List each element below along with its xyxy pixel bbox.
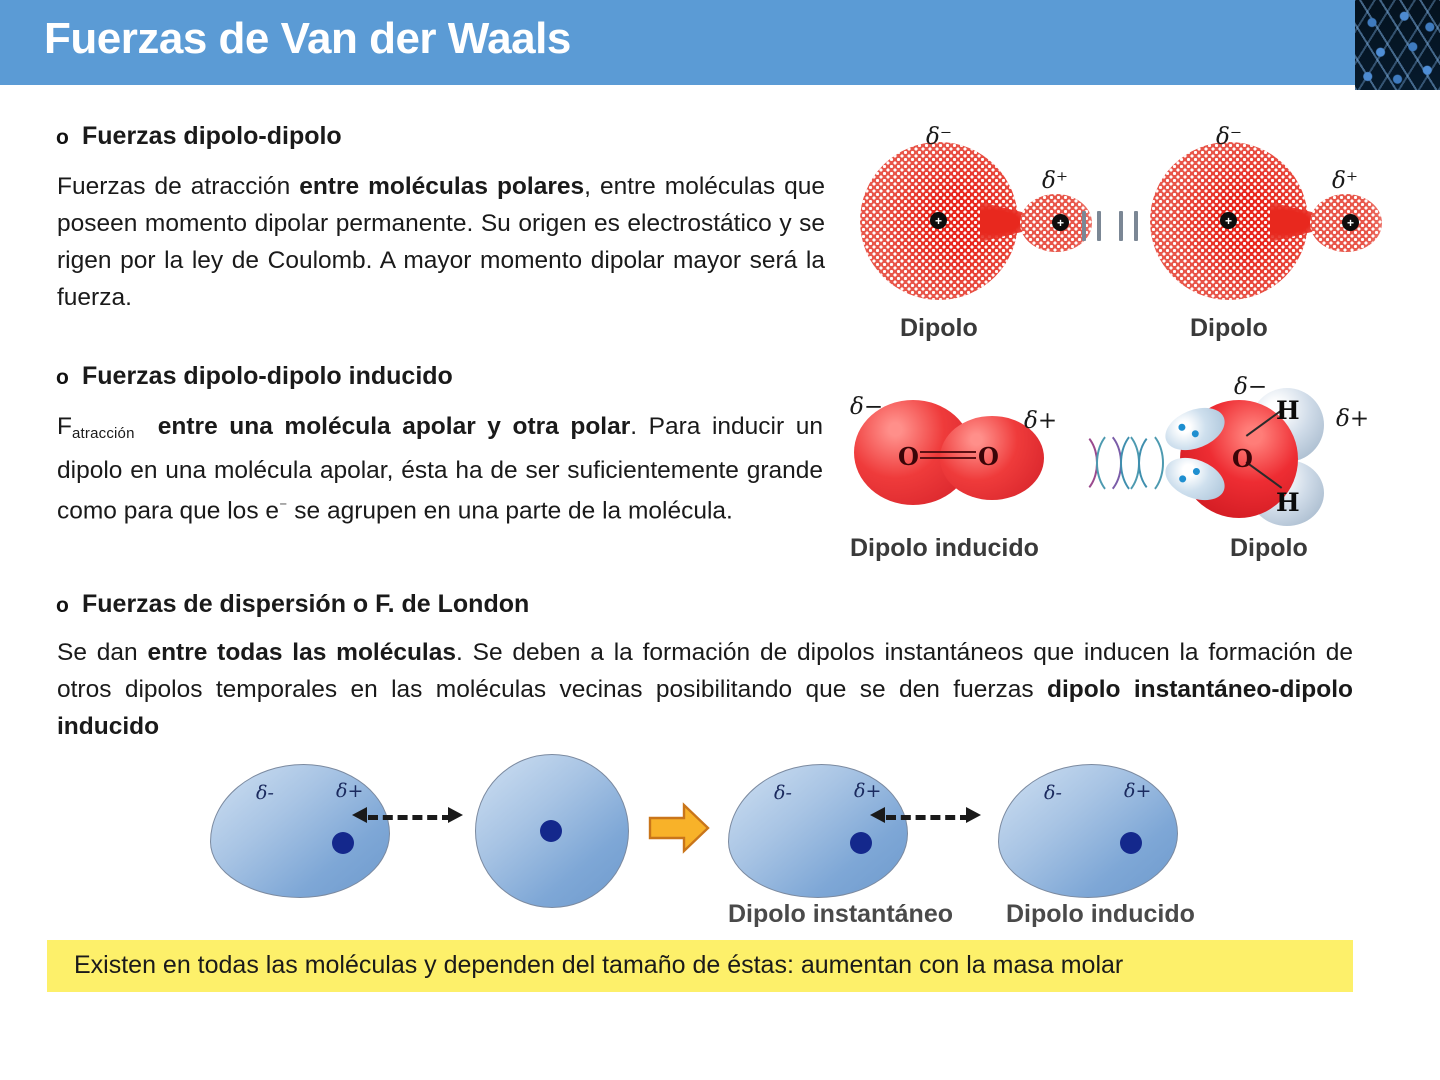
water-caption: Dipolo bbox=[1230, 534, 1308, 563]
water-delta-negative-label: δ− bbox=[1234, 374, 1267, 400]
dipole-molecule-right: + + δ⁻ δ⁺ Dipolo bbox=[1150, 136, 1400, 312]
dipole-dipole-diagram: + + δ⁻ δ⁺ Dipolo + + δ⁻ δ⁺ Dipolo bbox=[860, 112, 1380, 352]
sphere-1-nucleus bbox=[332, 832, 354, 854]
attraction-arrow-left-1 bbox=[352, 807, 367, 823]
dipole-molecule-left: + + δ⁻ δ⁺ Dipolo bbox=[860, 136, 1110, 312]
crystal-lattice-image bbox=[1355, 0, 1440, 90]
sphere-4-delta-positive: δ+ bbox=[1124, 780, 1151, 802]
transition-arrow-icon bbox=[648, 802, 710, 854]
s1-run-1: Fuerzas de atracción bbox=[57, 173, 299, 200]
sphere-2-nucleus bbox=[540, 820, 562, 842]
attraction-arrow-right-2 bbox=[966, 807, 981, 823]
o2-delta-positive-label: δ+ bbox=[1024, 408, 1057, 434]
london-dispersion-diagram: δ- δ+ δ- δ+ Dipolo instantáneo δ- δ+ Dip… bbox=[200, 748, 1200, 930]
interaction-arc bbox=[1052, 430, 1098, 496]
water-oxygen-label: O bbox=[1232, 444, 1253, 473]
sphere-4-caption: Dipolo inducido bbox=[1006, 900, 1195, 929]
double-bond-line bbox=[920, 457, 976, 459]
nucleus-negative-end: + bbox=[930, 212, 947, 229]
bullet-circle-icon: o bbox=[56, 594, 82, 618]
nucleus-negative-end: + bbox=[1220, 212, 1237, 229]
section-1-heading: oFuerzas dipolo-dipolo bbox=[56, 122, 342, 151]
section-1-heading-label: Fuerzas dipolo-dipolo bbox=[82, 122, 342, 150]
s3-run-2-bold: entre todas las moléculas bbox=[147, 639, 456, 666]
section-3-heading: oFuerzas de dispersión o F. de London bbox=[56, 590, 529, 619]
attraction-dashline-2 bbox=[886, 815, 970, 820]
section-3-heading-label: Fuerzas de dispersión o F. de London bbox=[82, 590, 529, 618]
section-2-heading-label: Fuerzas dipolo-dipolo inducido bbox=[82, 362, 453, 390]
bullet-circle-icon: o bbox=[56, 126, 82, 150]
sphere-3-nucleus bbox=[850, 832, 872, 854]
water-delta-positive-label: δ+ bbox=[1336, 406, 1369, 432]
section-2-heading: oFuerzas dipolo-dipolo inducido bbox=[56, 362, 453, 391]
s2-formula: F bbox=[57, 413, 72, 440]
section-1-body: Fuerzas de atracción entre moléculas pol… bbox=[57, 168, 825, 316]
attraction-dashline-1 bbox=[368, 815, 452, 820]
nucleus-positive-end: + bbox=[1342, 214, 1359, 231]
nucleus-positive-end: + bbox=[1052, 214, 1069, 231]
water-hydrogen-label-top: H bbox=[1276, 396, 1300, 425]
delta-negative-label: δ⁻ bbox=[1216, 124, 1242, 150]
s2-formula-subscript: atracción bbox=[72, 425, 135, 442]
s3-run-1: Se dan bbox=[57, 639, 147, 666]
dipole-caption-right: Dipolo bbox=[1190, 314, 1268, 343]
attraction-arrow-left-2 bbox=[870, 807, 885, 823]
dipole-caption-left: Dipolo bbox=[900, 314, 978, 343]
sphere-3-delta-negative: δ- bbox=[774, 782, 792, 804]
o2-caption: Dipolo inducido bbox=[850, 534, 1039, 563]
slide-header-bar: Fuerzas de Van der Waals bbox=[0, 0, 1440, 85]
interaction-dash bbox=[1119, 211, 1123, 241]
section-3-body: Se dan entre todas las moléculas. Se deb… bbox=[57, 634, 1353, 745]
dipole-induced-dipole-diagram: O O δ− δ+ Dipolo inducido bbox=[848, 378, 1380, 568]
summary-highlight-text: Existen en todas las moléculas y depende… bbox=[74, 951, 1123, 980]
water-molecule: O H H bbox=[1146, 382, 1378, 532]
sphere-3-caption: Dipolo instantáneo bbox=[728, 900, 953, 929]
delta-positive-label: δ⁺ bbox=[1042, 168, 1068, 194]
slide-canvas: Fuerzas de Van der Waals oFuerzas dipolo… bbox=[0, 0, 1440, 1080]
bullet-circle-icon: o bbox=[56, 366, 82, 390]
sphere-3-delta-positive: δ+ bbox=[854, 780, 881, 802]
double-bond-line bbox=[920, 451, 976, 453]
water-hydrogen-label-bottom: H bbox=[1276, 488, 1300, 517]
interaction-dash bbox=[1097, 211, 1101, 241]
delta-negative-label: δ⁻ bbox=[926, 124, 952, 150]
sphere-1-delta-positive: δ+ bbox=[336, 780, 363, 802]
sphere-1-delta-negative: δ- bbox=[256, 782, 274, 804]
delta-positive-label: δ⁺ bbox=[1332, 168, 1358, 194]
sphere-4-delta-negative: δ- bbox=[1044, 782, 1062, 804]
s2-run-3: se agrupen en una parte de la molécula. bbox=[287, 498, 732, 525]
sphere-4-nucleus bbox=[1120, 832, 1142, 854]
oxygen-atom-label-right: O bbox=[978, 442, 999, 471]
oxygen-atom-label-left: O bbox=[898, 442, 919, 471]
interaction-dash bbox=[1134, 211, 1138, 241]
page-title: Fuerzas de Van der Waals bbox=[44, 14, 571, 64]
s1-run-2-bold: entre moléculas polares bbox=[299, 173, 584, 200]
section-2-body: Fatracción entre una molécula apolar y o… bbox=[57, 408, 823, 530]
o2-delta-negative-label: δ− bbox=[850, 394, 883, 420]
attraction-arrow-right-1 bbox=[448, 807, 463, 823]
s2-run-1-bold: entre una molécula apolar y otra polar bbox=[158, 413, 630, 440]
interaction-dash bbox=[1082, 211, 1086, 241]
